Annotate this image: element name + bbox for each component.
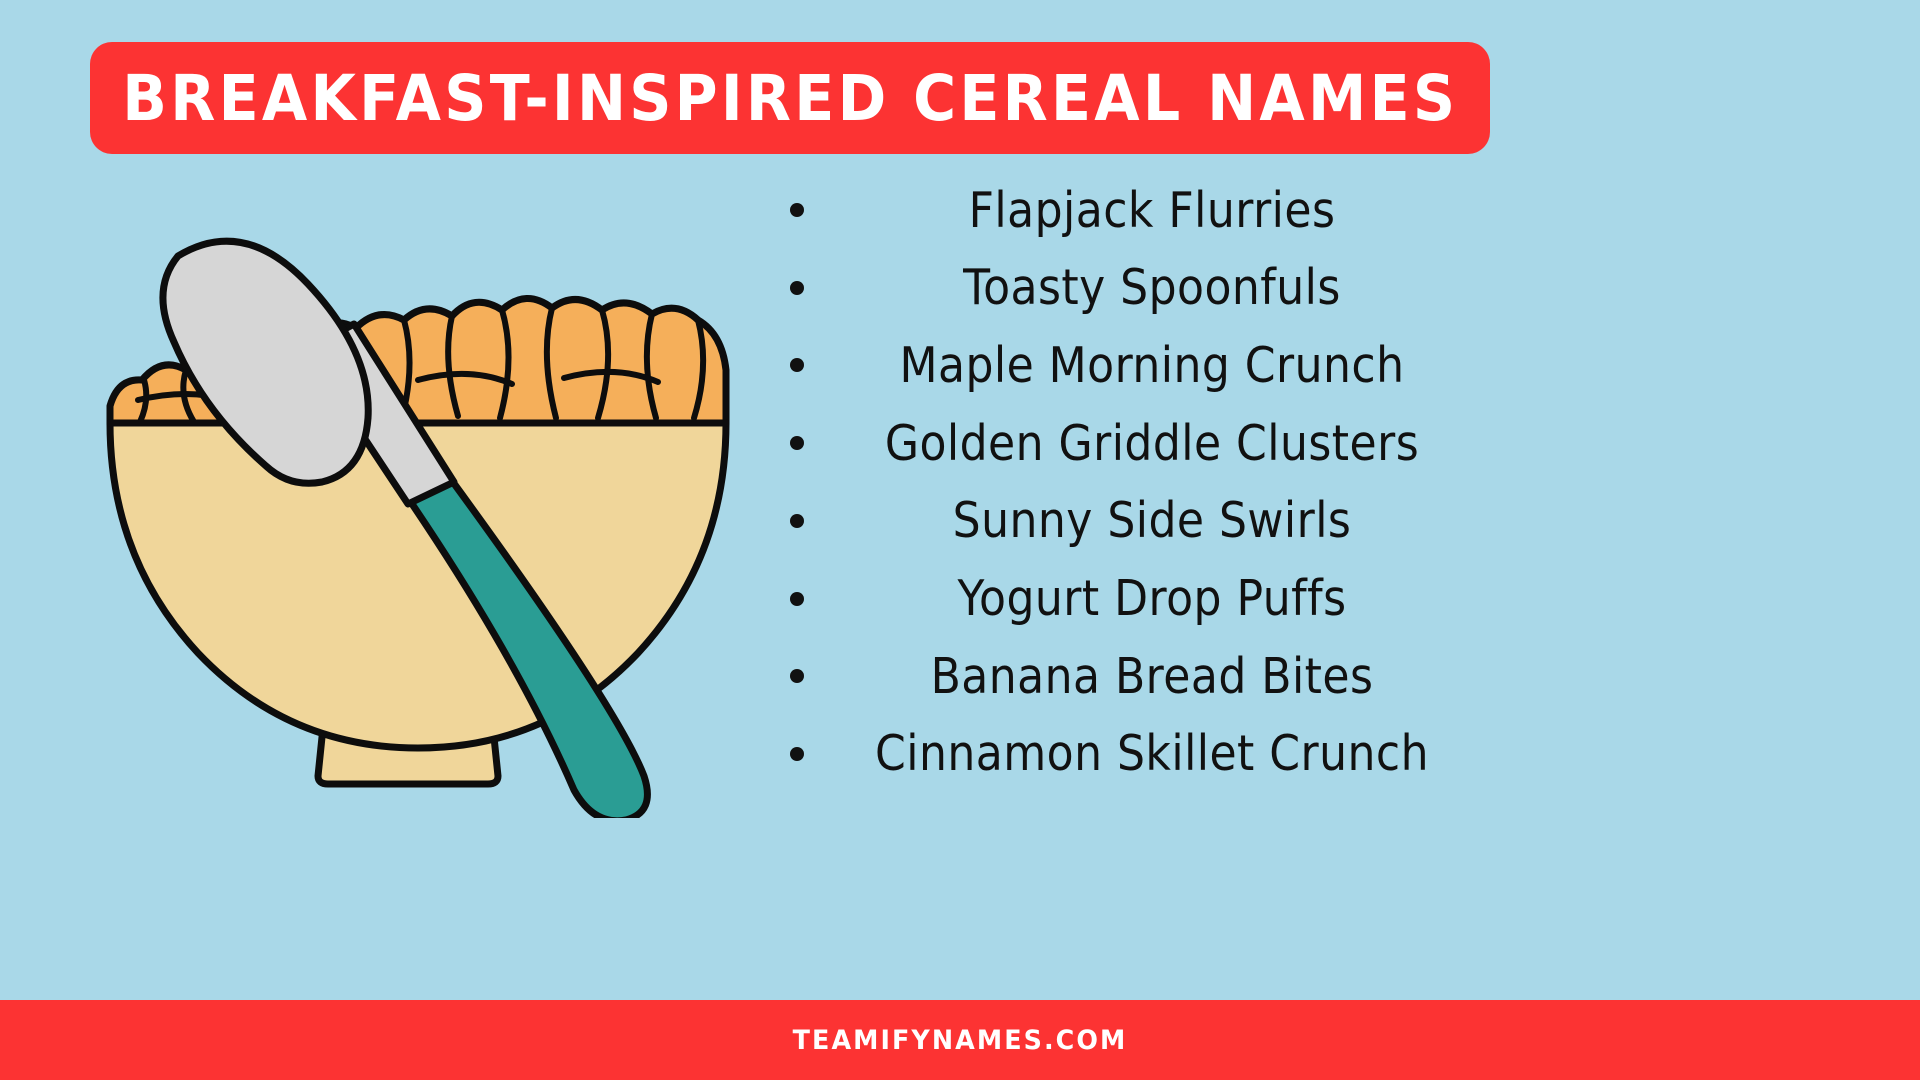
bullet-icon [790,281,804,295]
list-item: Maple Morning Crunch [790,327,1490,403]
bullet-icon [790,203,804,217]
bullet-icon [790,436,804,450]
title-banner: Breakfast-Inspired Cereal Names [90,42,1490,154]
list-item-label: Yogurt Drop Puffs [848,574,1456,623]
list-item-label: Toasty Spoonfuls [848,263,1456,312]
bullet-icon [790,514,804,528]
list-item-label: Sunny Side Swirls [848,496,1456,545]
list-item-label: Maple Morning Crunch [848,341,1456,390]
list-item: Flapjack Flurries [790,172,1490,248]
list-item-label: Golden Griddle Clusters [848,419,1456,468]
bullet-icon [790,747,804,761]
list-item: Toasty Spoonfuls [790,250,1490,326]
cereal-bowl-illustration [78,228,778,818]
list-item-label: Banana Bread Bites [848,652,1456,701]
footer-website-text: TEAMIFYNAMES.COM [793,1025,1128,1056]
cereal-names-list: Flapjack Flurries Toasty Spoonfuls Maple… [790,172,1490,792]
list-item: Sunny Side Swirls [790,483,1490,559]
bullet-icon [790,358,804,372]
footer-bar: TEAMIFYNAMES.COM [0,1000,1920,1080]
list-item-label: Flapjack Flurries [848,186,1456,235]
poster-canvas: Breakfast-Inspired Cereal Names [0,0,1920,1080]
list-item: Cinnamon Skillet Crunch [790,716,1490,792]
list-item: Banana Bread Bites [790,638,1490,714]
list-item: Golden Griddle Clusters [790,405,1490,481]
bullet-icon [790,592,804,606]
page-title: Breakfast-Inspired Cereal Names [122,67,1458,130]
list-item-label: Cinnamon Skillet Crunch [848,729,1456,778]
list-item: Yogurt Drop Puffs [790,561,1490,637]
bullet-icon [790,669,804,683]
